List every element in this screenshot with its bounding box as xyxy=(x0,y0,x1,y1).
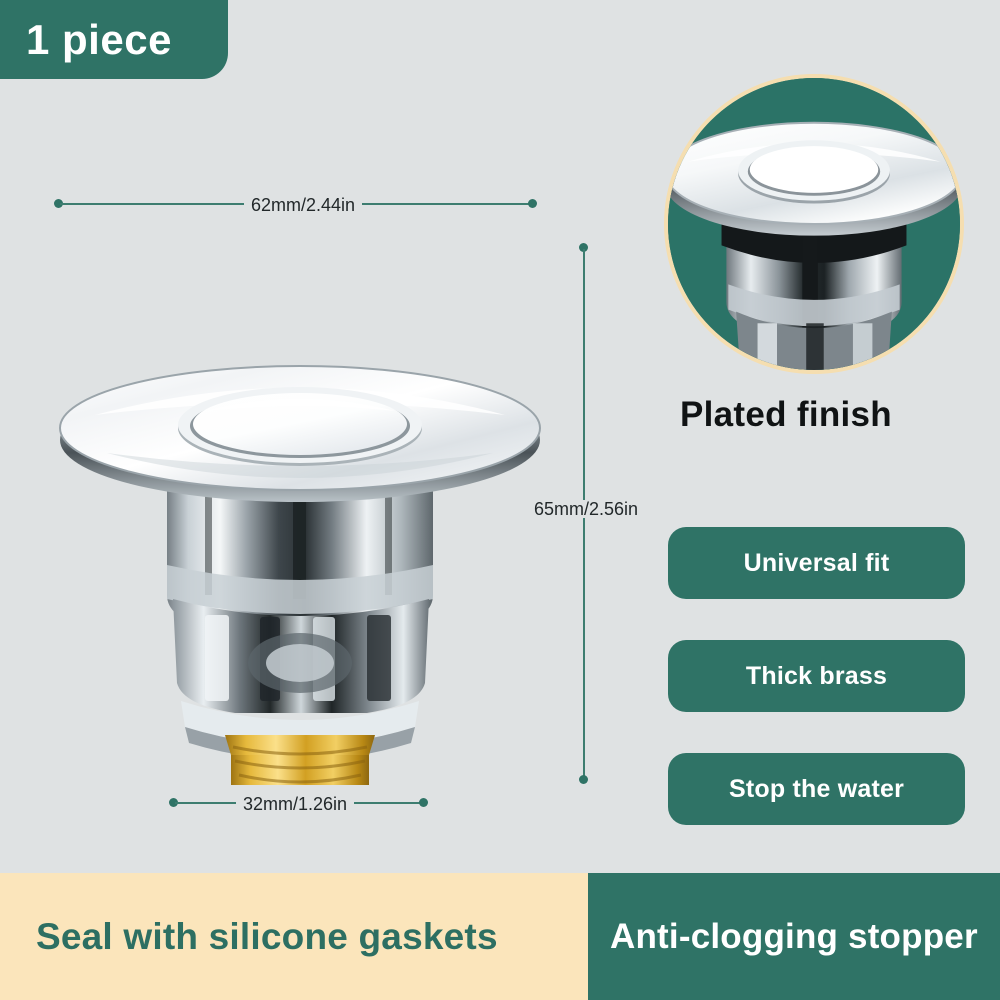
feature-pill-universal-fit: Universal fit xyxy=(668,527,965,599)
feature-pill-label: Stop the water xyxy=(729,777,904,802)
dim-dot-width-top-right xyxy=(528,199,537,208)
dim-label-height-right: 65mm/2.56in xyxy=(527,500,645,518)
dim-dot-height-bottom xyxy=(579,775,588,784)
feature-pill-thick-brass: Thick brass xyxy=(668,640,965,712)
dim-label-width-top: 62mm/2.44in xyxy=(244,196,362,214)
banner-right-panel: Anti-clogging stopper xyxy=(588,873,1000,1000)
banner-right-text: Anti-clogging stopper xyxy=(610,919,978,954)
plated-finish-caption: Plated finish xyxy=(680,397,892,432)
product-infographic: 1 piece xyxy=(0,0,1000,1000)
banner-left-panel: Seal with silicone gaskets xyxy=(0,873,588,1000)
feature-pill-label: Universal fit xyxy=(744,551,890,576)
bottom-banner: Seal with silicone gaskets Anti-clogging… xyxy=(0,873,1000,1000)
plated-finish-inset-image xyxy=(664,74,964,374)
piece-count-label: 1 piece xyxy=(26,19,172,61)
feature-pill-stop-the-water: Stop the water xyxy=(668,753,965,825)
feature-pill-label: Thick brass xyxy=(746,664,887,689)
banner-left-text: Seal with silicone gaskets xyxy=(36,918,498,955)
product-image-main xyxy=(55,265,545,785)
piece-count-badge: 1 piece xyxy=(0,0,228,79)
dim-dot-width-bottom-right xyxy=(419,798,428,807)
dim-label-width-bottom: 32mm/1.26in xyxy=(236,795,354,813)
